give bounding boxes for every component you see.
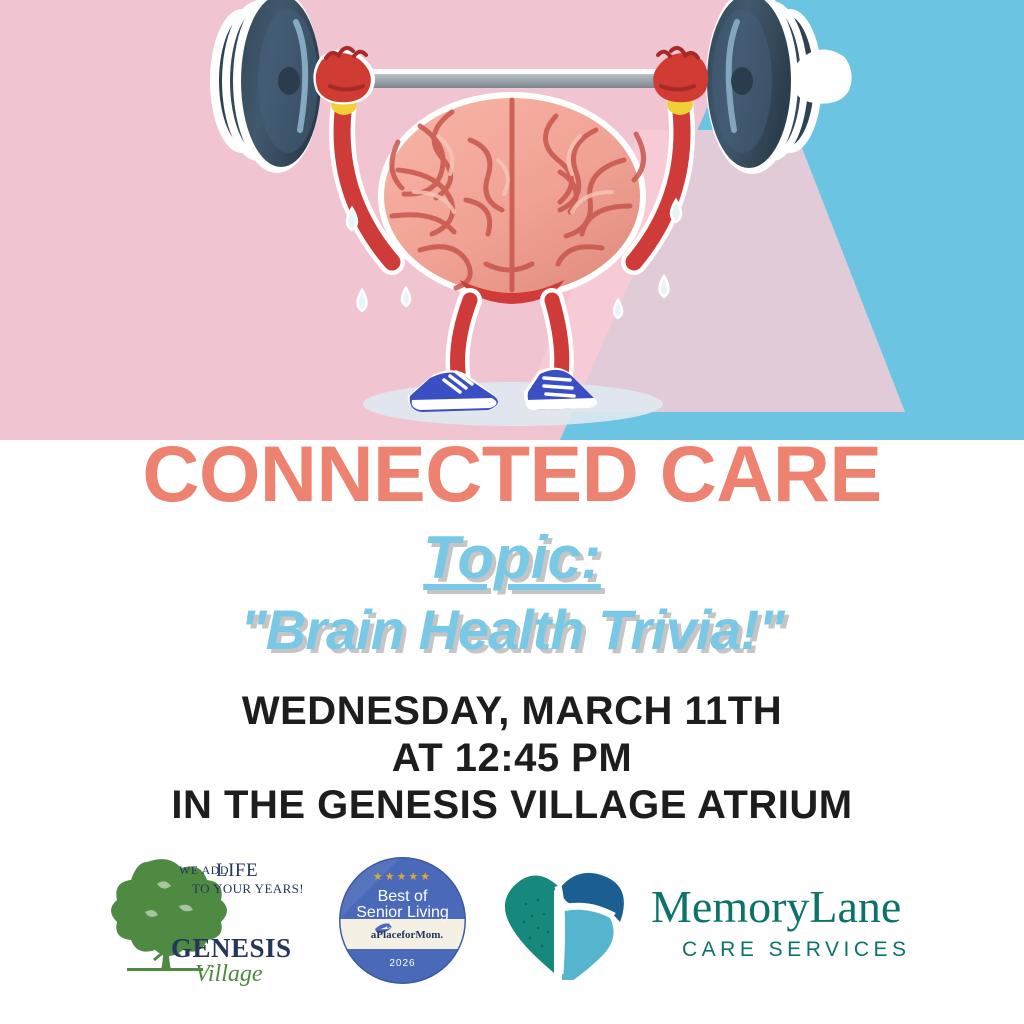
flyer-canvas: CONNECTED CARE Topic: "Brain Health Triv… bbox=[0, 0, 1024, 1024]
event-location: IN THE GENESIS VILLAGE ATRIUM bbox=[0, 782, 1024, 829]
event-details: WEDNESDAY, MARCH 11TH AT 12:45 PM IN THE… bbox=[0, 688, 1024, 829]
memorylane-title: MemoryLane bbox=[651, 881, 901, 932]
event-date: WEDNESDAY, MARCH 11TH bbox=[0, 688, 1024, 735]
page-title: CONNECTED CARE bbox=[0, 432, 1024, 516]
genesis-script: Village bbox=[195, 961, 263, 987]
flyer-text-block: CONNECTED CARE Topic: "Brain Health Triv… bbox=[0, 432, 1024, 829]
genesis-wordmark: GENESIS bbox=[171, 933, 292, 963]
memorylane-subtitle: CARE SERVICES bbox=[682, 938, 911, 961]
genesis-tagline-large: LIFE bbox=[216, 860, 258, 881]
topic-section: Topic: "Brain Health Trivia!" bbox=[0, 528, 1024, 658]
brain-lifting-barbell-illustration bbox=[0, 0, 1024, 440]
memorylane-care-services-logo: MemoryLane CARE SERVICES bbox=[496, 860, 916, 980]
event-time: AT 12:45 PM bbox=[0, 735, 1024, 782]
logo-row: WE ADD LIFE TO YOUR YEARS! GENESIS Villa… bbox=[0, 845, 1024, 995]
heart-icon bbox=[504, 873, 623, 980]
badge-line1: Best of bbox=[377, 888, 427, 905]
genesis-village-logo: WE ADD LIFE TO YOUR YEARS! GENESIS Villa… bbox=[109, 850, 309, 990]
topic-label: Topic: bbox=[0, 528, 1024, 588]
badge-line2: Senior Living bbox=[356, 904, 449, 921]
badge-stars: ★★★★★ bbox=[372, 870, 431, 883]
genesis-tagline-line2: TO YOUR YEARS! bbox=[192, 881, 304, 896]
badge-brand: aPlaceforMom. bbox=[370, 929, 443, 941]
badge-year: 2026 bbox=[389, 958, 415, 969]
topic-value: "Brain Health Trivia!" bbox=[0, 602, 1024, 658]
best-of-senior-living-badge: ★★★★★ Best of Senior Living aPlaceforMom… bbox=[335, 853, 470, 988]
